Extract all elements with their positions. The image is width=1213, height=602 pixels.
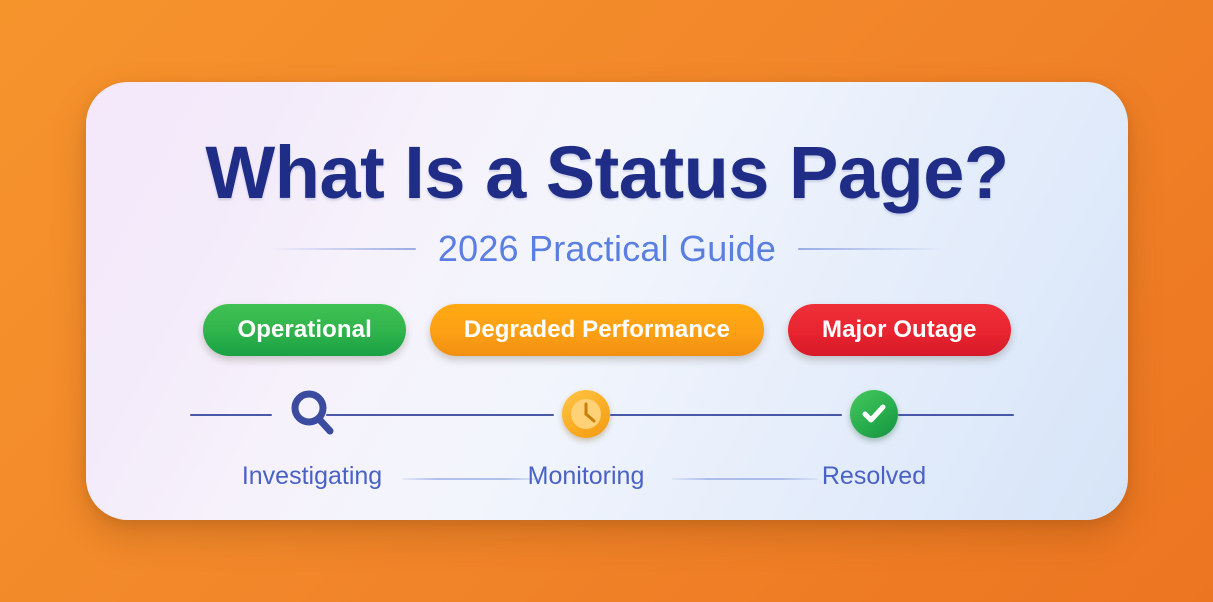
- status-badge-operational[interactable]: Operational: [203, 304, 405, 356]
- timeline-labels: Investigating Monitoring Resolved: [86, 462, 1128, 496]
- timeline-step-monitoring[interactable]: [562, 390, 610, 438]
- clock-icon: [562, 390, 610, 438]
- subtitle-row: 2026 Practical Guide: [86, 228, 1128, 270]
- status-badge-label: Degraded Performance: [464, 316, 730, 344]
- page-subtitle: 2026 Practical Guide: [438, 228, 776, 270]
- status-badge-outage[interactable]: Major Outage: [788, 304, 1011, 356]
- timeline-step-resolved[interactable]: [850, 390, 898, 438]
- check-circle-icon: [850, 390, 898, 438]
- timeline-label-investigating: Investigating: [242, 462, 382, 491]
- subtitle-rule-left: [268, 248, 416, 250]
- status-pill-group: Operational Degraded Performance Major O…: [86, 304, 1128, 356]
- timeline-label-connector: [402, 478, 540, 480]
- subtitle-rule-right: [798, 248, 946, 250]
- timeline-step-investigating[interactable]: [286, 386, 340, 440]
- magnifier-icon: [286, 386, 340, 440]
- status-badge-label: Major Outage: [822, 316, 977, 344]
- status-page-card: What Is a Status Page? 2026 Practical Gu…: [86, 82, 1128, 520]
- incident-timeline: Investigating Monitoring Resolved: [86, 400, 1128, 500]
- poster-canvas: What Is a Status Page? 2026 Practical Gu…: [0, 0, 1213, 602]
- timeline-label-resolved: Resolved: [822, 462, 926, 491]
- status-badge-degraded[interactable]: Degraded Performance: [430, 304, 764, 356]
- status-badge-label: Operational: [237, 316, 371, 344]
- page-title: What Is a Status Page?: [86, 136, 1128, 210]
- timeline-label-connector: [672, 478, 818, 480]
- timeline-nodes: [86, 400, 1128, 462]
- timeline-label-monitoring: Monitoring: [528, 462, 645, 491]
